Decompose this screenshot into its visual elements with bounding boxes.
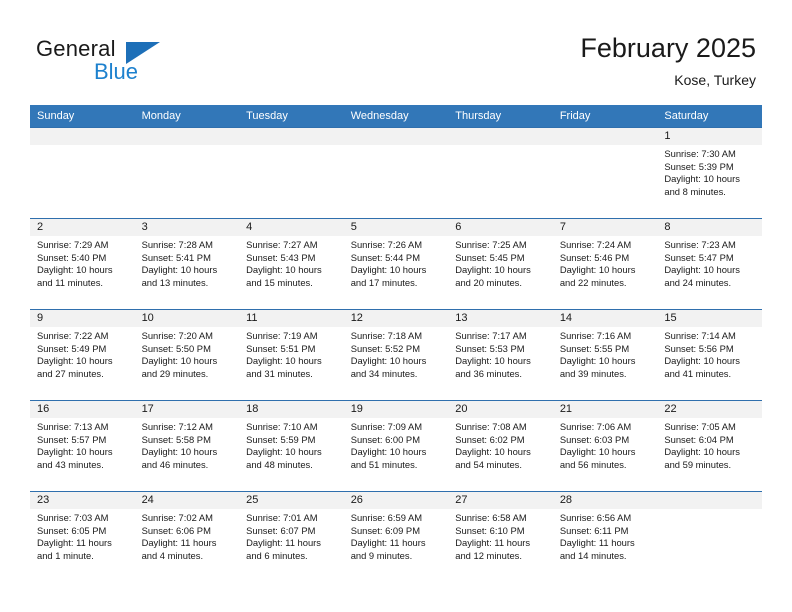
- sunset-text: Sunset: 5:41 PM: [142, 252, 234, 265]
- calendar-day-cell[interactable]: 25Sunrise: 7:01 AMSunset: 6:07 PMDayligh…: [239, 492, 344, 583]
- title-block: February 2025 Kose, Turkey: [580, 32, 756, 90]
- day-cell-inner: [553, 128, 658, 218]
- weekday-header-tuesday: Tuesday: [239, 105, 344, 128]
- day-number: [448, 128, 553, 145]
- page-title: February 2025: [580, 32, 756, 64]
- weekday-header-monday: Monday: [135, 105, 240, 128]
- sunset-text: Sunset: 5:49 PM: [37, 343, 129, 356]
- sunset-text: Sunset: 6:09 PM: [351, 525, 443, 538]
- calendar-week-row: 16Sunrise: 7:13 AMSunset: 5:57 PMDayligh…: [30, 401, 762, 492]
- day-cell-inner: 5Sunrise: 7:26 AMSunset: 5:44 PMDaylight…: [344, 219, 449, 309]
- day-number: 14: [553, 310, 658, 327]
- weekday-header-friday: Friday: [553, 105, 658, 128]
- calendar-day-cell[interactable]: 21Sunrise: 7:06 AMSunset: 6:03 PMDayligh…: [553, 401, 658, 492]
- day-number: 6: [448, 219, 553, 236]
- day-cell-inner: 15Sunrise: 7:14 AMSunset: 5:56 PMDayligh…: [657, 310, 762, 400]
- day-details: Sunrise: 7:16 AMSunset: 5:55 PMDaylight:…: [553, 327, 658, 380]
- calendar-day-cell[interactable]: 17Sunrise: 7:12 AMSunset: 5:58 PMDayligh…: [135, 401, 240, 492]
- day-details: Sunrise: 7:18 AMSunset: 5:52 PMDaylight:…: [344, 327, 449, 380]
- calendar-day-cell[interactable]: 7Sunrise: 7:24 AMSunset: 5:46 PMDaylight…: [553, 219, 658, 310]
- calendar-body: 1Sunrise: 7:30 AMSunset: 5:39 PMDaylight…: [30, 128, 762, 583]
- day-details: Sunrise: 7:12 AMSunset: 5:58 PMDaylight:…: [135, 418, 240, 471]
- day-details: Sunrise: 7:10 AMSunset: 5:59 PMDaylight:…: [239, 418, 344, 471]
- daylight-text: Daylight: 10 hours and 41 minutes.: [664, 355, 756, 380]
- day-details: Sunrise: 7:23 AMSunset: 5:47 PMDaylight:…: [657, 236, 762, 289]
- daylight-text: Daylight: 10 hours and 51 minutes.: [351, 446, 443, 471]
- day-number: 25: [239, 492, 344, 509]
- day-details: Sunrise: 7:26 AMSunset: 5:44 PMDaylight:…: [344, 236, 449, 289]
- sunrise-text: Sunrise: 6:59 AM: [351, 512, 443, 525]
- day-cell-inner: 8Sunrise: 7:23 AMSunset: 5:47 PMDaylight…: [657, 219, 762, 309]
- sunrise-text: Sunrise: 7:08 AM: [455, 421, 547, 434]
- sunset-text: Sunset: 5:53 PM: [455, 343, 547, 356]
- day-cell-inner: 9Sunrise: 7:22 AMSunset: 5:49 PMDaylight…: [30, 310, 135, 400]
- sunrise-text: Sunrise: 7:09 AM: [351, 421, 443, 434]
- daylight-text: Daylight: 11 hours and 6 minutes.: [246, 537, 338, 562]
- day-cell-inner: 10Sunrise: 7:20 AMSunset: 5:50 PMDayligh…: [135, 310, 240, 400]
- sunset-text: Sunset: 5:45 PM: [455, 252, 547, 265]
- sunrise-text: Sunrise: 7:02 AM: [142, 512, 234, 525]
- day-number: 4: [239, 219, 344, 236]
- sunset-text: Sunset: 5:58 PM: [142, 434, 234, 447]
- day-number: 3: [135, 219, 240, 236]
- calendar-day-cell[interactable]: 10Sunrise: 7:20 AMSunset: 5:50 PMDayligh…: [135, 310, 240, 401]
- day-number: 19: [344, 401, 449, 418]
- day-details: Sunrise: 6:59 AMSunset: 6:09 PMDaylight:…: [344, 509, 449, 562]
- sunrise-text: Sunrise: 7:16 AM: [560, 330, 652, 343]
- sunrise-text: Sunrise: 7:20 AM: [142, 330, 234, 343]
- sunset-text: Sunset: 6:05 PM: [37, 525, 129, 538]
- calendar-day-cell[interactable]: 8Sunrise: 7:23 AMSunset: 5:47 PMDaylight…: [657, 219, 762, 310]
- day-details: Sunrise: 7:13 AMSunset: 5:57 PMDaylight:…: [30, 418, 135, 471]
- sunrise-text: Sunrise: 7:01 AM: [246, 512, 338, 525]
- day-number: [344, 128, 449, 145]
- day-cell-inner: 4Sunrise: 7:27 AMSunset: 5:43 PMDaylight…: [239, 219, 344, 309]
- day-details: Sunrise: 7:25 AMSunset: 5:45 PMDaylight:…: [448, 236, 553, 289]
- calendar-day-cell[interactable]: 3Sunrise: 7:28 AMSunset: 5:41 PMDaylight…: [135, 219, 240, 310]
- weekday-header-thursday: Thursday: [448, 105, 553, 128]
- calendar-day-cell[interactable]: 15Sunrise: 7:14 AMSunset: 5:56 PMDayligh…: [657, 310, 762, 401]
- day-details: Sunrise: 7:17 AMSunset: 5:53 PMDaylight:…: [448, 327, 553, 380]
- day-cell-inner: 11Sunrise: 7:19 AMSunset: 5:51 PMDayligh…: [239, 310, 344, 400]
- calendar-cell-empty: [239, 128, 344, 219]
- sunrise-text: Sunrise: 7:17 AM: [455, 330, 547, 343]
- calendar-day-cell[interactable]: 12Sunrise: 7:18 AMSunset: 5:52 PMDayligh…: [344, 310, 449, 401]
- sunset-text: Sunset: 5:59 PM: [246, 434, 338, 447]
- sunset-text: Sunset: 6:00 PM: [351, 434, 443, 447]
- daylight-text: Daylight: 10 hours and 15 minutes.: [246, 264, 338, 289]
- day-number: 21: [553, 401, 658, 418]
- sunrise-text: Sunrise: 6:58 AM: [455, 512, 547, 525]
- calendar-day-cell[interactable]: 14Sunrise: 7:16 AMSunset: 5:55 PMDayligh…: [553, 310, 658, 401]
- day-details: Sunrise: 7:27 AMSunset: 5:43 PMDaylight:…: [239, 236, 344, 289]
- day-number: 9: [30, 310, 135, 327]
- daylight-text: Daylight: 10 hours and 39 minutes.: [560, 355, 652, 380]
- daylight-text: Daylight: 10 hours and 13 minutes.: [142, 264, 234, 289]
- day-number: [135, 128, 240, 145]
- calendar-cell-empty: [657, 492, 762, 583]
- day-details: Sunrise: 6:56 AMSunset: 6:11 PMDaylight:…: [553, 509, 658, 562]
- day-number: 28: [553, 492, 658, 509]
- day-number: 10: [135, 310, 240, 327]
- day-cell-inner: 1Sunrise: 7:30 AMSunset: 5:39 PMDaylight…: [657, 128, 762, 218]
- daylight-text: Daylight: 10 hours and 59 minutes.: [664, 446, 756, 471]
- day-number: 17: [135, 401, 240, 418]
- day-cell-inner: 2Sunrise: 7:29 AMSunset: 5:40 PMDaylight…: [30, 219, 135, 309]
- daylight-text: Daylight: 10 hours and 20 minutes.: [455, 264, 547, 289]
- calendar-day-cell[interactable]: 26Sunrise: 6:59 AMSunset: 6:09 PMDayligh…: [344, 492, 449, 583]
- sunset-text: Sunset: 5:44 PM: [351, 252, 443, 265]
- day-number: [657, 492, 762, 509]
- calendar-day-cell[interactable]: 24Sunrise: 7:02 AMSunset: 6:06 PMDayligh…: [135, 492, 240, 583]
- sunrise-text: Sunrise: 7:03 AM: [37, 512, 129, 525]
- calendar-day-cell[interactable]: 22Sunrise: 7:05 AMSunset: 6:04 PMDayligh…: [657, 401, 762, 492]
- day-details: Sunrise: 7:29 AMSunset: 5:40 PMDaylight:…: [30, 236, 135, 289]
- daylight-text: Daylight: 11 hours and 12 minutes.: [455, 537, 547, 562]
- calendar-day-cell[interactable]: 11Sunrise: 7:19 AMSunset: 5:51 PMDayligh…: [239, 310, 344, 401]
- daylight-text: Daylight: 10 hours and 31 minutes.: [246, 355, 338, 380]
- day-details: Sunrise: 7:24 AMSunset: 5:46 PMDaylight:…: [553, 236, 658, 289]
- day-cell-inner: [448, 128, 553, 218]
- page-subtitle-location: Kose, Turkey: [580, 70, 756, 90]
- calendar-day-cell[interactable]: 28Sunrise: 6:56 AMSunset: 6:11 PMDayligh…: [553, 492, 658, 583]
- daylight-text: Daylight: 10 hours and 17 minutes.: [351, 264, 443, 289]
- calendar-day-cell[interactable]: 13Sunrise: 7:17 AMSunset: 5:53 PMDayligh…: [448, 310, 553, 401]
- calendar-cell-empty: [448, 128, 553, 219]
- calendar-day-cell[interactable]: 4Sunrise: 7:27 AMSunset: 5:43 PMDaylight…: [239, 219, 344, 310]
- sunrise-text: Sunrise: 7:29 AM: [37, 239, 129, 252]
- daylight-text: Daylight: 10 hours and 56 minutes.: [560, 446, 652, 471]
- day-number: 1: [657, 128, 762, 145]
- sunset-text: Sunset: 5:55 PM: [560, 343, 652, 356]
- daylight-text: Daylight: 11 hours and 1 minute.: [37, 537, 129, 562]
- daylight-text: Daylight: 10 hours and 46 minutes.: [142, 446, 234, 471]
- day-cell-inner: 14Sunrise: 7:16 AMSunset: 5:55 PMDayligh…: [553, 310, 658, 400]
- sunset-text: Sunset: 5:57 PM: [37, 434, 129, 447]
- calendar-week-row: 1Sunrise: 7:30 AMSunset: 5:39 PMDaylight…: [30, 128, 762, 219]
- day-number: 2: [30, 219, 135, 236]
- calendar-day-cell[interactable]: 2Sunrise: 7:29 AMSunset: 5:40 PMDaylight…: [30, 219, 135, 310]
- sunrise-text: Sunrise: 7:22 AM: [37, 330, 129, 343]
- weekday-header-saturday: Saturday: [657, 105, 762, 128]
- sunset-text: Sunset: 5:50 PM: [142, 343, 234, 356]
- day-number: 5: [344, 219, 449, 236]
- sunset-text: Sunset: 6:07 PM: [246, 525, 338, 538]
- day-details: Sunrise: 7:06 AMSunset: 6:03 PMDaylight:…: [553, 418, 658, 471]
- day-cell-inner: 22Sunrise: 7:05 AMSunset: 6:04 PMDayligh…: [657, 401, 762, 491]
- daylight-text: Daylight: 10 hours and 27 minutes.: [37, 355, 129, 380]
- day-cell-inner: 18Sunrise: 7:10 AMSunset: 5:59 PMDayligh…: [239, 401, 344, 491]
- sunrise-text: Sunrise: 7:18 AM: [351, 330, 443, 343]
- sunset-text: Sunset: 5:52 PM: [351, 343, 443, 356]
- calendar-day-cell[interactable]: 16Sunrise: 7:13 AMSunset: 5:57 PMDayligh…: [30, 401, 135, 492]
- page-header: General Blue February 2025 Kose, Turkey: [0, 0, 792, 104]
- day-cell-inner: [135, 128, 240, 218]
- day-cell-inner: 24Sunrise: 7:02 AMSunset: 6:06 PMDayligh…: [135, 492, 240, 582]
- calendar-cell-empty: [135, 128, 240, 219]
- day-cell-inner: [344, 128, 449, 218]
- calendar-day-cell[interactable]: 18Sunrise: 7:10 AMSunset: 5:59 PMDayligh…: [239, 401, 344, 492]
- day-details: Sunrise: 7:03 AMSunset: 6:05 PMDaylight:…: [30, 509, 135, 562]
- sunset-text: Sunset: 5:56 PM: [664, 343, 756, 356]
- sunset-text: Sunset: 5:40 PM: [37, 252, 129, 265]
- day-details: Sunrise: 7:20 AMSunset: 5:50 PMDaylight:…: [135, 327, 240, 380]
- daylight-text: Daylight: 10 hours and 54 minutes.: [455, 446, 547, 471]
- day-cell-inner: 6Sunrise: 7:25 AMSunset: 5:45 PMDaylight…: [448, 219, 553, 309]
- sunrise-text: Sunrise: 7:06 AM: [560, 421, 652, 434]
- daylight-text: Daylight: 10 hours and 43 minutes.: [37, 446, 129, 471]
- calendar-day-cell[interactable]: 20Sunrise: 7:08 AMSunset: 6:02 PMDayligh…: [448, 401, 553, 492]
- calendar-page: General Blue February 2025 Kose, Turkey …: [0, 0, 792, 612]
- day-number: 7: [553, 219, 658, 236]
- sunset-text: Sunset: 5:39 PM: [664, 161, 756, 174]
- day-number: 13: [448, 310, 553, 327]
- daylight-text: Daylight: 11 hours and 14 minutes.: [560, 537, 652, 562]
- sunset-text: Sunset: 6:06 PM: [142, 525, 234, 538]
- day-cell-inner: 21Sunrise: 7:06 AMSunset: 6:03 PMDayligh…: [553, 401, 658, 491]
- sunrise-text: Sunrise: 7:23 AM: [664, 239, 756, 252]
- day-cell-inner: 3Sunrise: 7:28 AMSunset: 5:41 PMDaylight…: [135, 219, 240, 309]
- daylight-text: Daylight: 11 hours and 4 minutes.: [142, 537, 234, 562]
- weekday-header-row: Sunday Monday Tuesday Wednesday Thursday…: [30, 105, 762, 128]
- sunset-text: Sunset: 5:47 PM: [664, 252, 756, 265]
- calendar-day-cell[interactable]: 23Sunrise: 7:03 AMSunset: 6:05 PMDayligh…: [30, 492, 135, 583]
- day-cell-inner: 12Sunrise: 7:18 AMSunset: 5:52 PMDayligh…: [344, 310, 449, 400]
- day-details: Sunrise: 7:19 AMSunset: 5:51 PMDaylight:…: [239, 327, 344, 380]
- calendar-day-cell[interactable]: 5Sunrise: 7:26 AMSunset: 5:44 PMDaylight…: [344, 219, 449, 310]
- day-number: 26: [344, 492, 449, 509]
- day-number: 27: [448, 492, 553, 509]
- calendar-cell-empty: [344, 128, 449, 219]
- sunrise-text: Sunrise: 7:30 AM: [664, 148, 756, 161]
- day-details: Sunrise: 7:09 AMSunset: 6:00 PMDaylight:…: [344, 418, 449, 471]
- sunrise-text: Sunrise: 7:28 AM: [142, 239, 234, 252]
- sunset-text: Sunset: 5:43 PM: [246, 252, 338, 265]
- sunrise-text: Sunrise: 7:13 AM: [37, 421, 129, 434]
- daylight-text: Daylight: 10 hours and 8 minutes.: [664, 173, 756, 198]
- daylight-text: Daylight: 10 hours and 24 minutes.: [664, 264, 756, 289]
- calendar-week-row: 9Sunrise: 7:22 AMSunset: 5:49 PMDaylight…: [30, 310, 762, 401]
- day-number: 22: [657, 401, 762, 418]
- day-cell-inner: 17Sunrise: 7:12 AMSunset: 5:58 PMDayligh…: [135, 401, 240, 491]
- calendar-grid: Sunday Monday Tuesday Wednesday Thursday…: [30, 105, 762, 582]
- logo-text-blue: Blue: [94, 59, 138, 85]
- day-number: [30, 128, 135, 145]
- weekday-header-sunday: Sunday: [30, 105, 135, 128]
- day-number: 24: [135, 492, 240, 509]
- sunset-text: Sunset: 5:46 PM: [560, 252, 652, 265]
- sunrise-text: Sunrise: 7:19 AM: [246, 330, 338, 343]
- day-cell-inner: 28Sunrise: 6:56 AMSunset: 6:11 PMDayligh…: [553, 492, 658, 582]
- calendar-day-cell[interactable]: 19Sunrise: 7:09 AMSunset: 6:00 PMDayligh…: [344, 401, 449, 492]
- sunset-text: Sunset: 6:02 PM: [455, 434, 547, 447]
- sunrise-text: Sunrise: 7:12 AM: [142, 421, 234, 434]
- day-number: 11: [239, 310, 344, 327]
- day-number: 8: [657, 219, 762, 236]
- day-cell-inner: 19Sunrise: 7:09 AMSunset: 6:00 PMDayligh…: [344, 401, 449, 491]
- day-cell-inner: [657, 492, 762, 582]
- sunset-text: Sunset: 6:03 PM: [560, 434, 652, 447]
- day-number: 16: [30, 401, 135, 418]
- day-details: Sunrise: 7:22 AMSunset: 5:49 PMDaylight:…: [30, 327, 135, 380]
- sunrise-text: Sunrise: 7:25 AM: [455, 239, 547, 252]
- day-number: [553, 128, 658, 145]
- daylight-text: Daylight: 10 hours and 34 minutes.: [351, 355, 443, 380]
- day-details: Sunrise: 7:08 AMSunset: 6:02 PMDaylight:…: [448, 418, 553, 471]
- day-cell-inner: 7Sunrise: 7:24 AMSunset: 5:46 PMDaylight…: [553, 219, 658, 309]
- sunset-text: Sunset: 5:51 PM: [246, 343, 338, 356]
- day-cell-inner: 26Sunrise: 6:59 AMSunset: 6:09 PMDayligh…: [344, 492, 449, 582]
- day-details: Sunrise: 7:28 AMSunset: 5:41 PMDaylight:…: [135, 236, 240, 289]
- daylight-text: Daylight: 10 hours and 29 minutes.: [142, 355, 234, 380]
- calendar-week-row: 23Sunrise: 7:03 AMSunset: 6:05 PMDayligh…: [30, 492, 762, 583]
- general-blue-logo[interactable]: General Blue: [36, 36, 256, 92]
- daylight-text: Daylight: 10 hours and 11 minutes.: [37, 264, 129, 289]
- sunset-text: Sunset: 6:10 PM: [455, 525, 547, 538]
- daylight-text: Daylight: 10 hours and 22 minutes.: [560, 264, 652, 289]
- calendar-head: Sunday Monday Tuesday Wednesday Thursday…: [30, 105, 762, 128]
- calendar-day-cell[interactable]: 27Sunrise: 6:58 AMSunset: 6:10 PMDayligh…: [448, 492, 553, 583]
- sunset-text: Sunset: 6:04 PM: [664, 434, 756, 447]
- calendar-day-cell[interactable]: 9Sunrise: 7:22 AMSunset: 5:49 PMDaylight…: [30, 310, 135, 401]
- calendar-cell-empty: [553, 128, 658, 219]
- calendar-cell-empty: [30, 128, 135, 219]
- day-number: 20: [448, 401, 553, 418]
- day-cell-inner: 27Sunrise: 6:58 AMSunset: 6:10 PMDayligh…: [448, 492, 553, 582]
- day-details: Sunrise: 7:05 AMSunset: 6:04 PMDaylight:…: [657, 418, 762, 471]
- sunrise-text: Sunrise: 7:26 AM: [351, 239, 443, 252]
- sunrise-text: Sunrise: 7:10 AM: [246, 421, 338, 434]
- sunrise-text: Sunrise: 7:05 AM: [664, 421, 756, 434]
- sunset-text: Sunset: 6:11 PM: [560, 525, 652, 538]
- daylight-text: Daylight: 11 hours and 9 minutes.: [351, 537, 443, 562]
- daylight-text: Daylight: 10 hours and 36 minutes.: [455, 355, 547, 380]
- sunrise-text: Sunrise: 7:24 AM: [560, 239, 652, 252]
- day-details: Sunrise: 7:14 AMSunset: 5:56 PMDaylight:…: [657, 327, 762, 380]
- calendar-day-cell[interactable]: 6Sunrise: 7:25 AMSunset: 5:45 PMDaylight…: [448, 219, 553, 310]
- day-number: 15: [657, 310, 762, 327]
- calendar-day-cell[interactable]: 1Sunrise: 7:30 AMSunset: 5:39 PMDaylight…: [657, 128, 762, 219]
- day-number: [239, 128, 344, 145]
- day-number: 23: [30, 492, 135, 509]
- day-number: 18: [239, 401, 344, 418]
- day-cell-inner: [239, 128, 344, 218]
- day-cell-inner: 13Sunrise: 7:17 AMSunset: 5:53 PMDayligh…: [448, 310, 553, 400]
- day-cell-inner: 16Sunrise: 7:13 AMSunset: 5:57 PMDayligh…: [30, 401, 135, 491]
- calendar-week-row: 2Sunrise: 7:29 AMSunset: 5:40 PMDaylight…: [30, 219, 762, 310]
- day-cell-inner: [30, 128, 135, 218]
- daylight-text: Daylight: 10 hours and 48 minutes.: [246, 446, 338, 471]
- day-cell-inner: 23Sunrise: 7:03 AMSunset: 6:05 PMDayligh…: [30, 492, 135, 582]
- day-details: Sunrise: 6:58 AMSunset: 6:10 PMDaylight:…: [448, 509, 553, 562]
- day-number: 12: [344, 310, 449, 327]
- sunrise-text: Sunrise: 7:27 AM: [246, 239, 338, 252]
- day-details: Sunrise: 7:01 AMSunset: 6:07 PMDaylight:…: [239, 509, 344, 562]
- day-cell-inner: 20Sunrise: 7:08 AMSunset: 6:02 PMDayligh…: [448, 401, 553, 491]
- day-details: Sunrise: 7:30 AMSunset: 5:39 PMDaylight:…: [657, 145, 762, 198]
- sunrise-text: Sunrise: 7:14 AM: [664, 330, 756, 343]
- weekday-header-wednesday: Wednesday: [344, 105, 449, 128]
- day-details: Sunrise: 7:02 AMSunset: 6:06 PMDaylight:…: [135, 509, 240, 562]
- day-cell-inner: 25Sunrise: 7:01 AMSunset: 6:07 PMDayligh…: [239, 492, 344, 582]
- sunrise-text: Sunrise: 6:56 AM: [560, 512, 652, 525]
